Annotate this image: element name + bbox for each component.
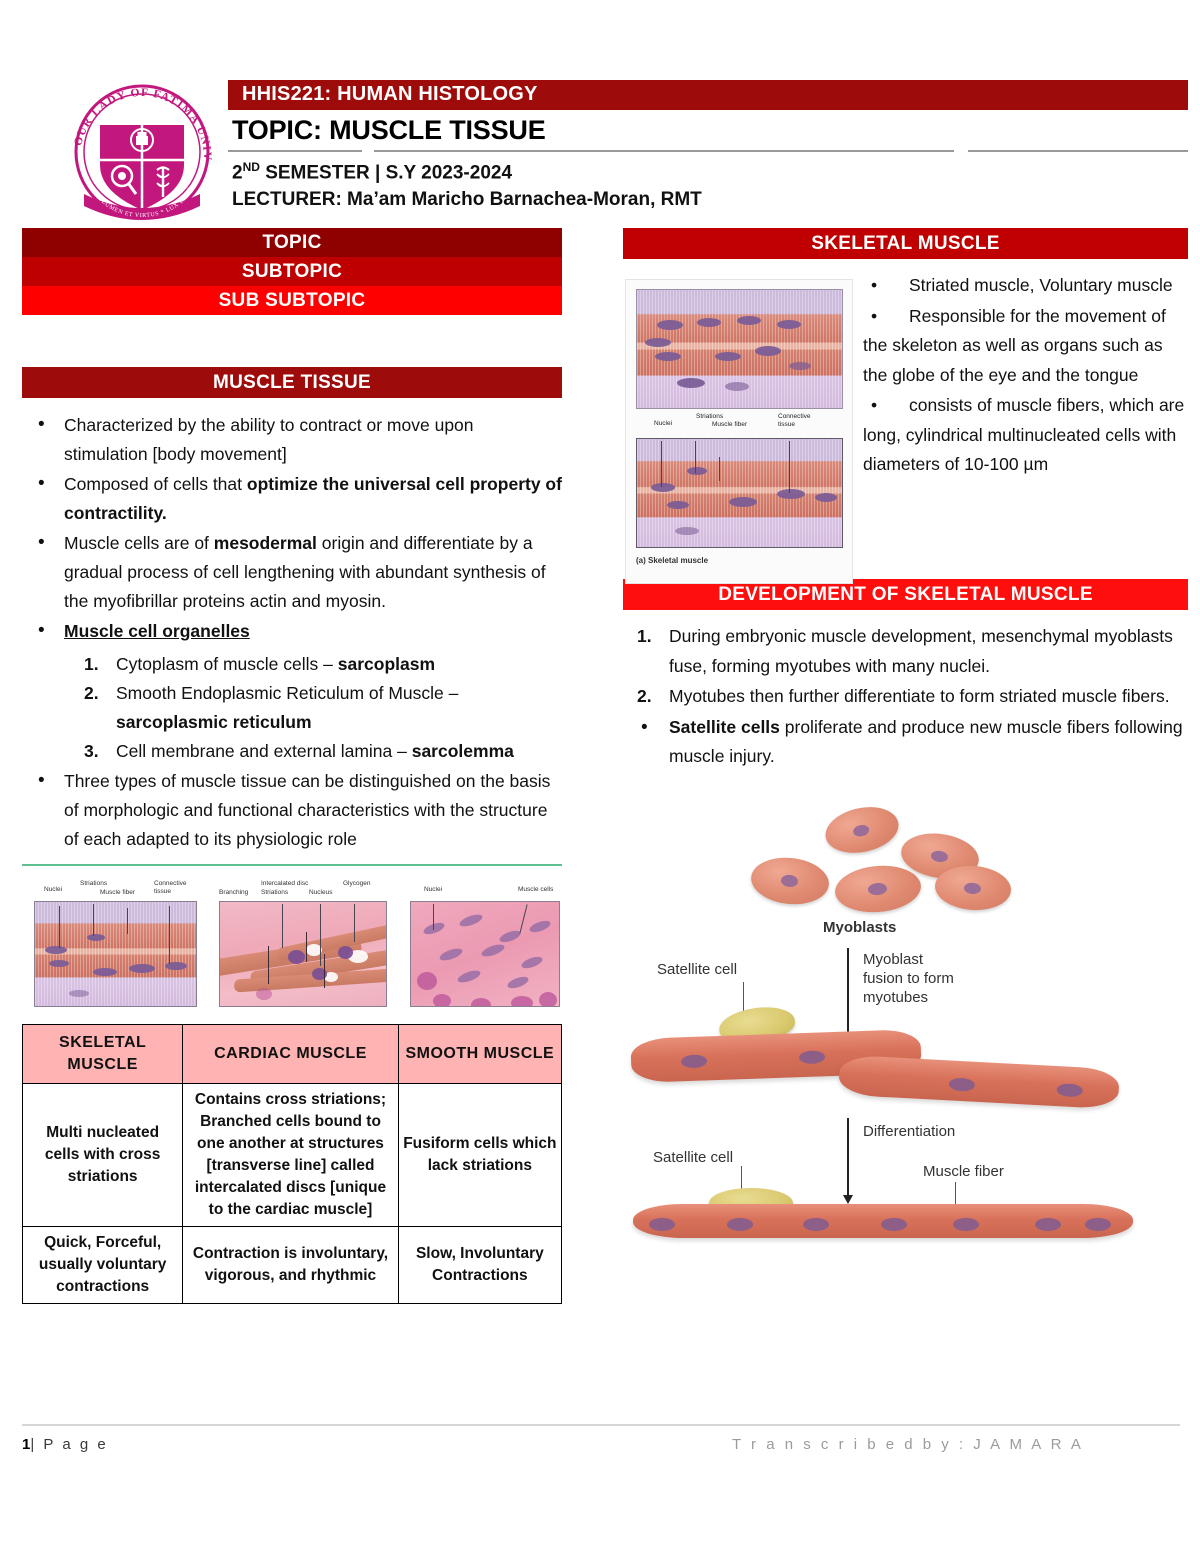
legend-topic: TOPIC: [22, 228, 562, 257]
semester-number: 2: [232, 162, 243, 183]
university-seal-logo: OUR LADY OF FATIMA UNIVERSITY LUMEN ET V…: [62, 70, 222, 232]
list-item: •consists of muscle fibers, which are lo…: [863, 391, 1185, 480]
table-cell: Quick, Forceful, usually voluntary contr…: [23, 1227, 183, 1304]
label-satellite-cell-1: Satellite cell: [657, 960, 737, 979]
page-footer: 1| P a g e T r a n s c r i b e d b y : J…: [22, 1424, 1180, 1470]
table-cell: Slow, Involuntary Contractions: [398, 1227, 561, 1304]
page-separator: |: [30, 1436, 36, 1453]
table-cell: Contraction is involuntary, vigorous, an…: [183, 1227, 398, 1304]
table-header-row: SKELETAL MUSCLE CARDIAC MUSCLE SMOOTH MU…: [23, 1025, 562, 1084]
legend-key: TOPIC SUBTOPIC SUB SUBTOPIC: [22, 228, 562, 315]
label-connective-2: tissue: [778, 421, 795, 428]
arrow-differentiation: [847, 1118, 849, 1196]
development-list: 1.During embryonic muscle development, m…: [623, 622, 1188, 772]
semester-line: 2ND SEMESTER | S.Y 2023-2024: [228, 156, 1188, 184]
label-intercalated-disc: Intercalated disc: [261, 880, 308, 887]
footer-divider: [22, 1424, 1180, 1426]
label-myoblasts: Myoblasts: [823, 918, 896, 937]
page-title: TOPIC: MUSCLE TISSUE: [228, 110, 1188, 148]
label-nuclei: Nuclei: [654, 420, 672, 427]
micrograph-skeletal: [34, 901, 197, 1007]
legend-sub-subtopic: SUB SUBTOPIC: [22, 286, 562, 315]
table-row: Multi nucleated cells with cross striati…: [23, 1084, 562, 1227]
list-item: 2.Smooth Endoplasmic Reticulum of Muscle…: [64, 679, 562, 737]
table-header-cell: CARDIAC MUSCLE: [183, 1025, 398, 1084]
label-muscle-fiber: Muscle fiber: [712, 421, 747, 428]
page-number: 1| P a g e: [22, 1436, 108, 1453]
micrograph-smooth: [410, 901, 560, 1007]
label-differentiation: Differentiation: [863, 1122, 955, 1141]
label-striations: Striations: [261, 889, 288, 896]
lecturer-line: LECTURER: Ma’am Maricho Barnachea-Moran,…: [228, 184, 1188, 211]
label-muscle-cells: Muscle cells: [518, 886, 553, 893]
list-item-bold: Satellite cells: [669, 717, 780, 737]
page-word: P a g e: [43, 1436, 108, 1453]
section-header-skeletal-muscle: SKELETAL MUSCLE: [623, 228, 1188, 259]
table-cell: Multi nucleated cells with cross striati…: [23, 1084, 183, 1227]
label-nucleus: Nucleus: [309, 889, 332, 896]
label-muscle-fiber: Muscle fiber: [100, 889, 135, 896]
label-connective: Connective: [778, 413, 811, 420]
list-marker: 2.: [637, 682, 652, 712]
myoblast-cell: [833, 862, 923, 915]
table-row: Quick, Forceful, usually voluntary contr…: [23, 1227, 562, 1304]
list-item: 2.Myotubes then further differentiate to…: [623, 682, 1188, 712]
green-divider: [22, 864, 562, 866]
list-item: 1.Cytoplasm of muscle cells – sarcoplasm: [64, 650, 562, 679]
section-header-muscle-tissue: MUSCLE TISSUE: [22, 367, 562, 398]
list-marker: 1.: [637, 622, 652, 652]
figure-caption: (a) Skeletal muscle: [636, 556, 708, 565]
histology-panel-row: Nuclei Striations Muscle fiber Connectiv…: [22, 864, 562, 1012]
organelles-heading: Muscle cell organelles: [64, 621, 250, 641]
skeletal-muscle-bullet-list: •Striated muscle, Voluntary muscle •Resp…: [863, 271, 1185, 481]
diagram-skeletal-muscle: [636, 438, 843, 548]
skeletal-muscle-figure: Nuclei Striations Muscle fiber Connectiv…: [625, 279, 853, 584]
myoblast-cell: [934, 863, 1013, 912]
label-connective-2: tissue: [154, 888, 171, 895]
list-item: Characterized by the ability to contract…: [22, 411, 562, 469]
organelles-numbered-list: 1.Cytoplasm of muscle cells – sarcoplasm…: [64, 650, 562, 766]
micrograph-cardiac: [219, 901, 387, 1007]
list-item: Three types of muscle tissue can be dist…: [22, 767, 562, 854]
myoblast-differentiation-diagram: Myoblasts Myoblast fusion to form myotub…: [623, 800, 1188, 1280]
myoblast-cell: [749, 854, 831, 908]
label-striations: Striations: [696, 413, 723, 420]
list-item-text: During embryonic muscle development, mes…: [669, 626, 1173, 676]
title-divider: [228, 148, 1188, 156]
page-header: OUR LADY OF FATIMA UNIVERSITY LUMEN ET V…: [0, 0, 1200, 222]
leader-line: [743, 982, 744, 1014]
list-item-text: Myotubes then further differentiate to f…: [669, 686, 1170, 706]
label-nuclei: Nuclei: [424, 886, 442, 893]
list-item: •Responsible for the movement of the ske…: [863, 302, 1185, 391]
micrograph-skeletal-photo: [636, 289, 843, 409]
semester-text: SEMESTER | S.Y 2023-2024: [260, 162, 512, 183]
table-cell: Contains cross striations; Branched cell…: [183, 1084, 398, 1227]
muscle-comparison-table: SKELETAL MUSCLE CARDIAC MUSCLE SMOOTH MU…: [22, 1024, 562, 1304]
course-code-bar: HHIS221: HUMAN HISTOLOGY: [228, 80, 1188, 110]
label-muscle-fiber: Muscle fiber: [923, 1162, 1004, 1181]
table-header-cell: SMOOTH MUSCLE: [398, 1025, 561, 1084]
muscle-tissue-bullet-list: Characterized by the ability to contract…: [22, 411, 562, 854]
table-header-cell: SKELETAL MUSCLE: [23, 1025, 183, 1084]
label-myoblast-fusion: Myoblast fusion to form myotubes: [863, 950, 954, 1007]
label-glycogen: Glycogen: [343, 880, 370, 887]
arrow-fusion: [847, 948, 849, 1040]
transcriber-credit: T r a n s c r i b e d b y : J A M A R A: [732, 1436, 1084, 1453]
list-item: Composed of cells that optimize the univ…: [22, 470, 562, 528]
label-satellite-cell-2: Satellite cell: [653, 1148, 733, 1167]
list-item: •Striated muscle, Voluntary muscle: [863, 271, 1185, 301]
semester-ordinal: ND: [243, 160, 260, 174]
legend-subtopic: SUBTOPIC: [22, 257, 562, 286]
right-column: SKELETAL MUSCLE Nuclei Striations: [623, 228, 1188, 1280]
label-connective: Connective: [154, 880, 187, 887]
muscle-fiber-shape: [633, 1204, 1133, 1238]
list-item: Satellite cells proliferate and produce …: [623, 713, 1188, 772]
myoblast-cell: [821, 800, 903, 858]
label-branching: Branching: [219, 889, 248, 896]
label-nuclei: Nuclei: [44, 886, 62, 893]
list-item: 1.During embryonic muscle development, m…: [623, 622, 1188, 681]
list-item: 3.Cell membrane and external lamina – sa…: [64, 737, 562, 766]
table-cell: Fusiform cells which lack striations: [398, 1084, 561, 1227]
left-column: TOPIC SUBTOPIC SUB SUBTOPIC MUSCLE TISSU…: [22, 228, 562, 1304]
list-item: Muscle cells are of mesodermal origin an…: [22, 529, 562, 616]
label-striations: Striations: [80, 880, 107, 887]
myotube-shape: [838, 1054, 1120, 1109]
list-item-organelles-heading: Muscle cell organelles 1.Cytoplasm of mu…: [22, 617, 562, 766]
